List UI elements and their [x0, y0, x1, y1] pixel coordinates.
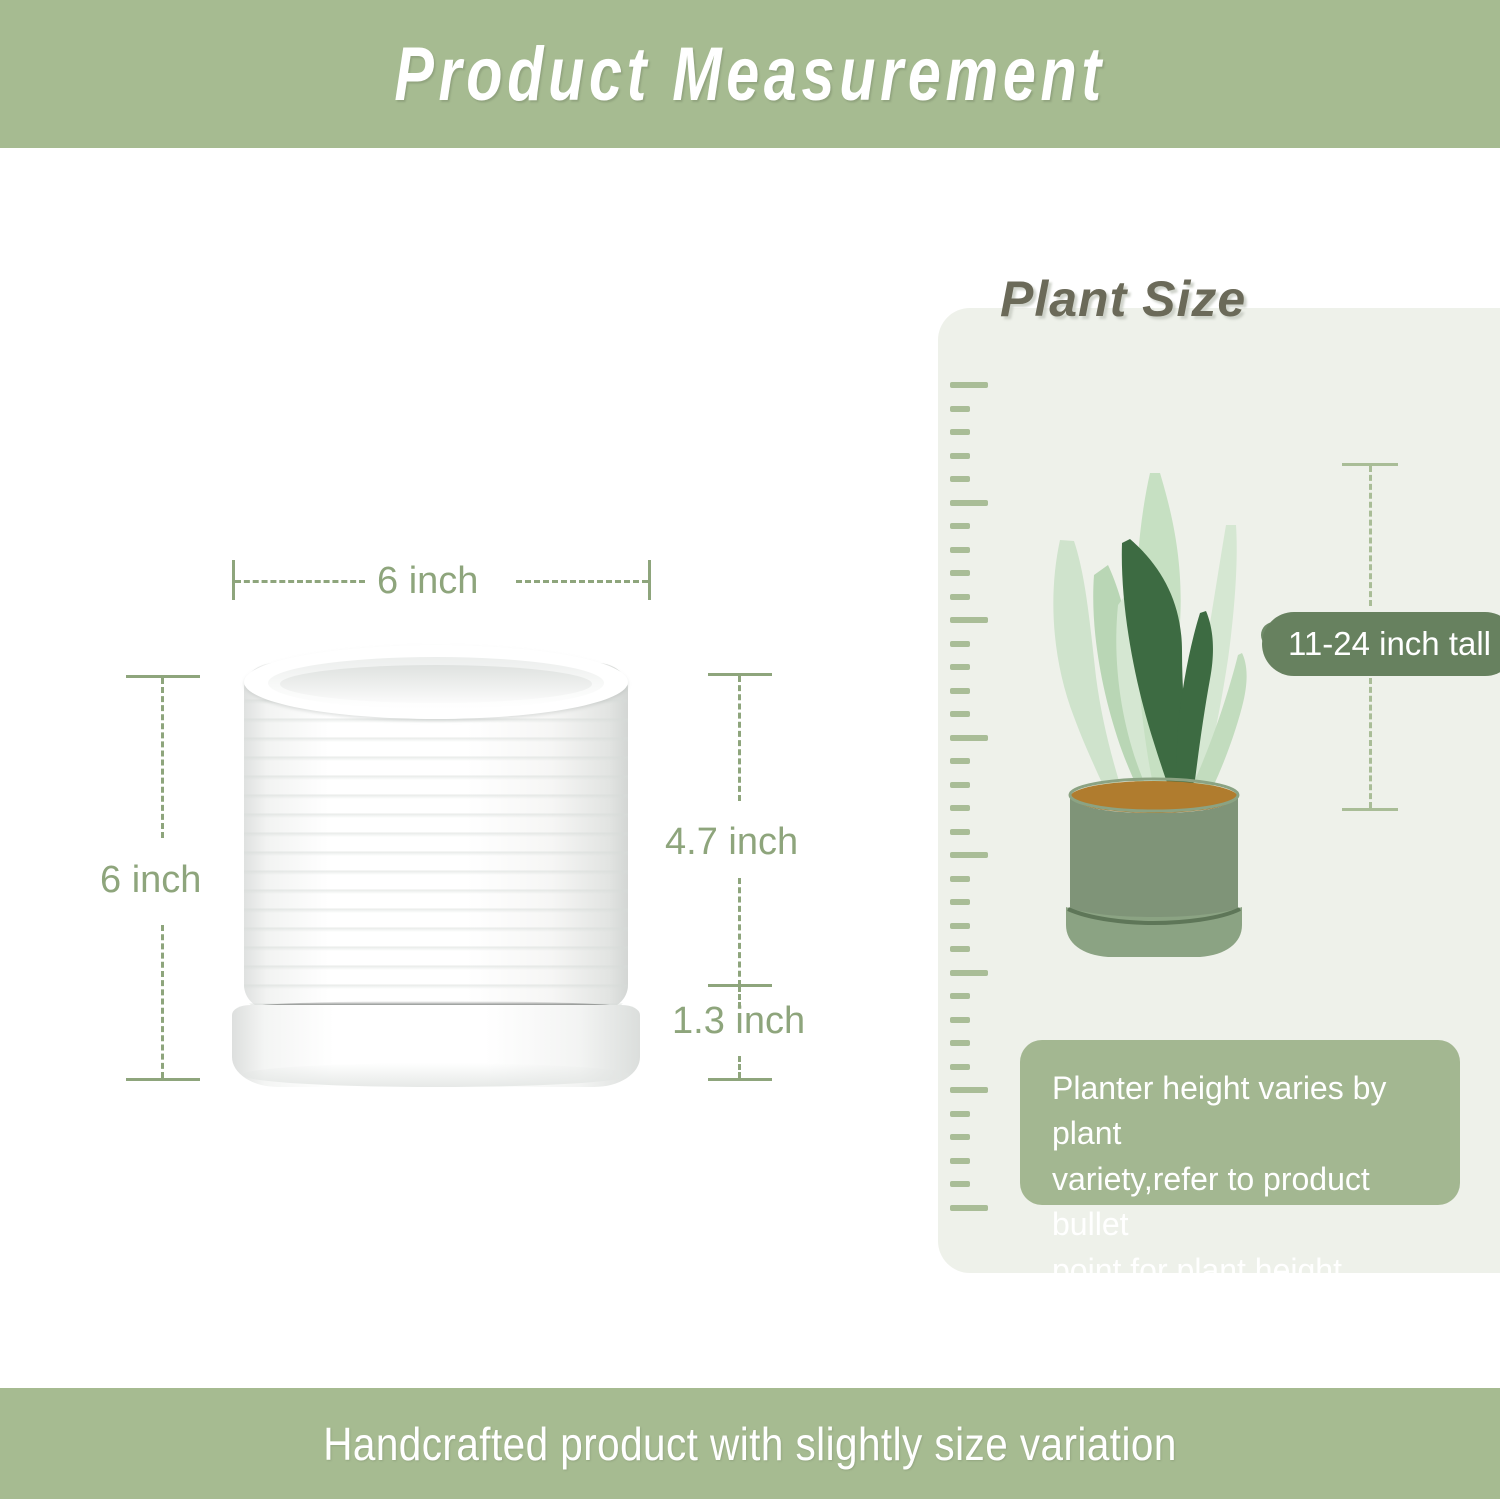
left-height-line-bottom — [161, 925, 164, 1078]
ruler-tick-minor — [950, 688, 970, 694]
ruler-tick-minor — [950, 1040, 970, 1046]
ruler-tick-minor — [950, 547, 970, 553]
ruler-tick-minor — [950, 711, 970, 717]
soil — [1070, 781, 1238, 813]
width-dim-line-left — [235, 580, 365, 583]
saucer-height-cap-bottom — [708, 1078, 772, 1081]
ruler-tick-minor — [950, 1017, 970, 1023]
ruler-tick-minor — [950, 594, 970, 600]
note-line-2: variety,refer to product bullet — [1052, 1157, 1428, 1248]
ruler-tick-major — [950, 1205, 988, 1211]
saucer-height-line-bottom — [738, 1056, 741, 1078]
ruler-tick-minor — [950, 453, 970, 459]
ruler-tick-minor — [950, 899, 970, 905]
page-title: Product Measurement — [394, 31, 1106, 118]
body-height-dimension-label: 4.7 inch — [665, 821, 798, 864]
ruler-tick-minor — [950, 476, 970, 482]
ruler-tick-minor — [950, 1111, 970, 1117]
plant-size-title: Plant Size — [1000, 270, 1246, 328]
product-photo-planter — [232, 645, 640, 1090]
planter-opening — [280, 665, 592, 703]
note-line-3: point for plant height details. — [1052, 1248, 1428, 1339]
footer-band: Handcrafted product with slightly size v… — [0, 1388, 1500, 1499]
width-dim-line-right — [516, 580, 648, 583]
plant-height-line-bottom — [1369, 678, 1372, 808]
ruler-tick-minor — [950, 664, 970, 670]
ruler-tick-minor — [950, 1134, 970, 1140]
planter-ribbing-texture — [244, 685, 628, 1011]
illustration-pot-body — [1070, 793, 1238, 933]
ruler-tick-minor — [950, 523, 970, 529]
ruler-tick-minor — [950, 1064, 970, 1070]
header-band: Product Measurement — [0, 0, 1500, 148]
snake-plant-svg — [1030, 455, 1280, 965]
note-line-1: Planter height varies by plant — [1052, 1066, 1428, 1157]
ruler-tick-minor — [950, 782, 970, 788]
ruler-tick-minor — [950, 429, 970, 435]
body-height-line-top — [738, 676, 741, 801]
ruler-tick-minor — [950, 1158, 970, 1164]
snake-plant-illustration — [1030, 455, 1280, 965]
ruler-tick-minor — [950, 876, 970, 882]
vertical-ruler — [950, 382, 1010, 1222]
left-height-line-top — [161, 678, 164, 838]
ruler-tick-major — [950, 852, 988, 858]
ruler-tick-major — [950, 735, 988, 741]
saucer-height-dimension-label: 1.3 inch — [672, 1000, 805, 1043]
ruler-tick-minor — [950, 406, 970, 412]
planter-saucer-shading — [242, 1063, 630, 1087]
left-height-cap-bottom — [126, 1078, 200, 1081]
footer-note: Handcrafted product with slightly size v… — [323, 1417, 1177, 1471]
width-dimension-label: 6 inch — [377, 560, 478, 603]
ruler-tick-minor — [950, 829, 970, 835]
plant-height-line-top — [1369, 466, 1372, 606]
ruler-tick-minor — [950, 570, 970, 576]
product-measurement-infographic: Product Measurement 6 inch 6 inch 4.7 in… — [0, 0, 1500, 1499]
ruler-tick-minor — [950, 946, 970, 952]
ruler-tick-major — [950, 382, 988, 388]
ruler-tick-minor — [950, 758, 970, 764]
width-dim-cap-right — [648, 560, 651, 600]
ruler-tick-major — [950, 1087, 988, 1093]
ruler-tick-minor — [950, 1181, 970, 1187]
ruler-tick-minor — [950, 805, 970, 811]
ruler-tick-major — [950, 617, 988, 623]
ruler-tick-major — [950, 970, 988, 976]
plant-height-note: Planter height varies by plant variety,r… — [1020, 1040, 1460, 1205]
ruler-tick-minor — [950, 993, 970, 999]
plant-height-badge: 11-24 inch tall — [1262, 612, 1500, 676]
body-height-line-bottom — [738, 878, 741, 986]
ruler-tick-major — [950, 500, 988, 506]
plant-height-cap-bottom — [1342, 808, 1398, 811]
left-height-dimension-label: 6 inch — [100, 859, 201, 902]
ruler-tick-minor — [950, 641, 970, 647]
ruler-tick-minor — [950, 923, 970, 929]
